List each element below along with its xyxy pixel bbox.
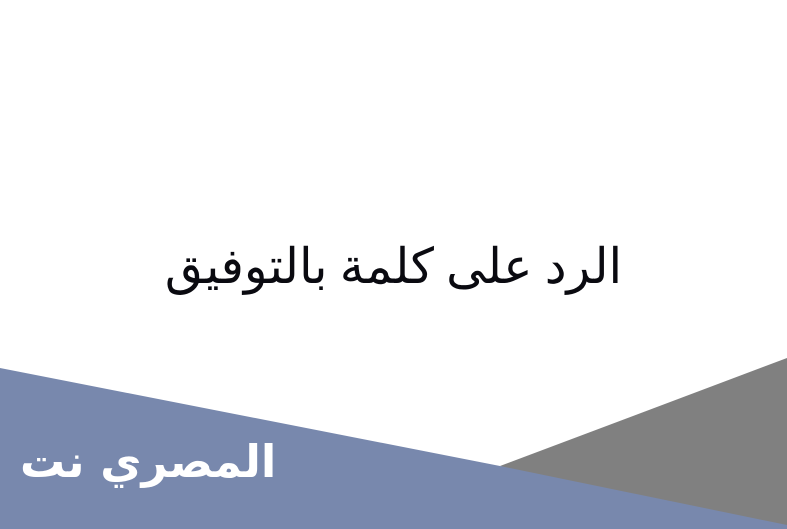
gray-angled-band — [500, 358, 787, 529]
site-logo-watermark: المصري نت — [20, 434, 276, 490]
image-canvas: الرد على كلمة بالتوفيق المصري نت — [0, 0, 787, 529]
page-title: الرد على كلمة بالتوفيق — [0, 236, 787, 297]
